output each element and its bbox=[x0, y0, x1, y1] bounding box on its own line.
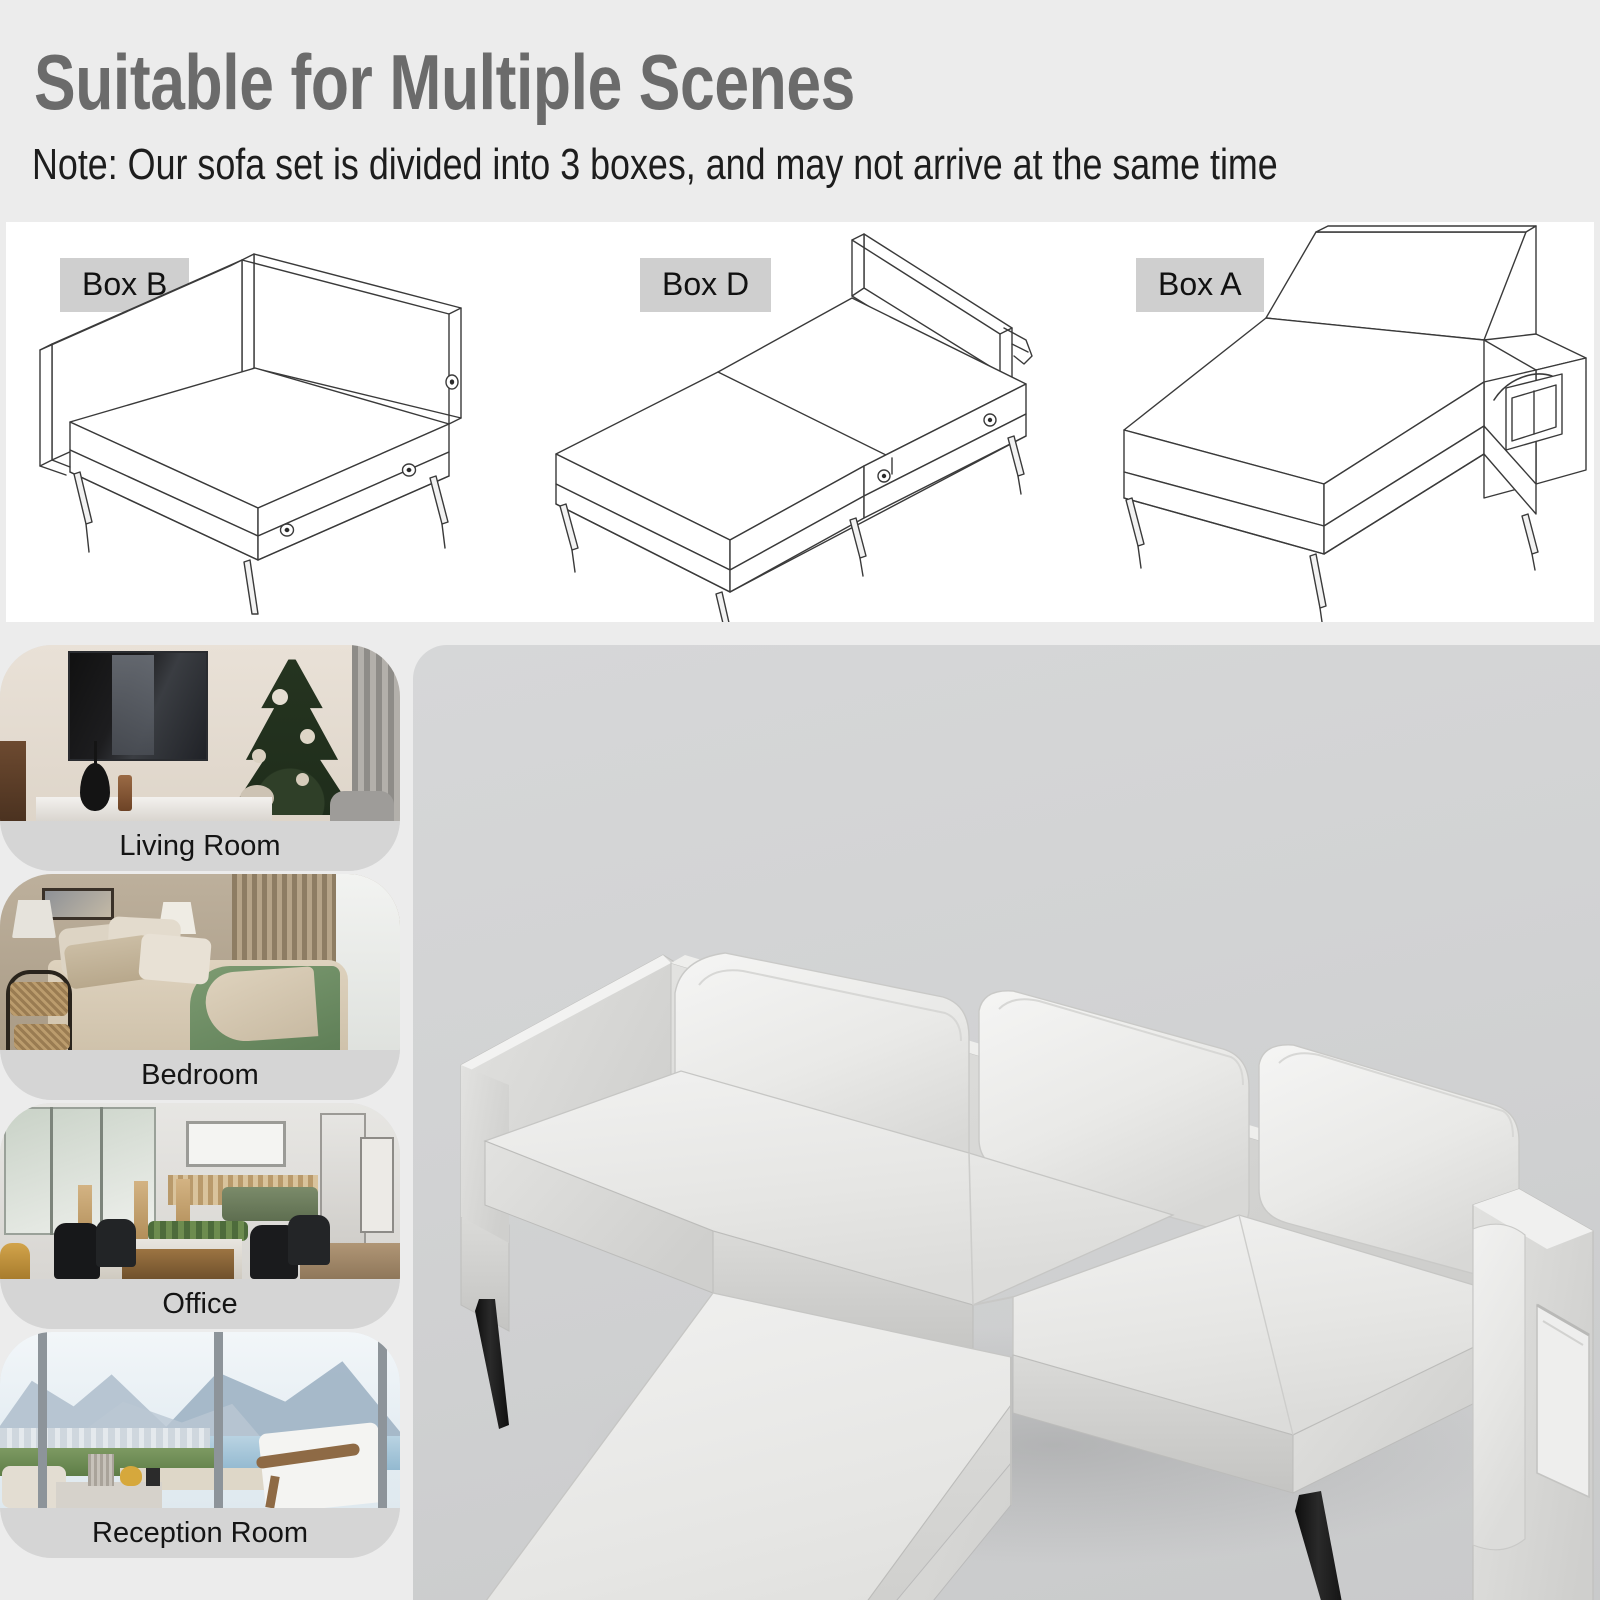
scene-tile-office[interactable]: Office bbox=[0, 1103, 400, 1329]
living-room-photo bbox=[0, 645, 400, 821]
header: Suitable for Multiple Scenes Note: Our s… bbox=[0, 0, 1600, 222]
box-diagram-a: Box A bbox=[1066, 222, 1594, 622]
scene-label-office: Office bbox=[0, 1279, 400, 1329]
scene-tile-bedroom[interactable]: Bedroom bbox=[0, 874, 400, 1100]
box-diagram-panel: Box B bbox=[6, 222, 1594, 622]
scene-label-living-room: Living Room bbox=[0, 821, 400, 871]
right-arm-power-module-icon bbox=[1066, 222, 1594, 622]
shipping-note: Note: Our sofa set is divided into 3 box… bbox=[32, 140, 1278, 190]
scene-label-bedroom: Bedroom bbox=[0, 1050, 400, 1100]
reception-room-photo bbox=[0, 1332, 400, 1508]
office-photo bbox=[0, 1103, 400, 1279]
scene-tile-reception-room[interactable]: Reception Room bbox=[0, 1332, 400, 1558]
corner-arm-module-icon bbox=[6, 222, 526, 622]
scene-label-reception-room: Reception Room bbox=[0, 1508, 400, 1558]
chaise-ottoman-module-icon bbox=[526, 222, 1066, 622]
page-title: Suitable for Multiple Scenes bbox=[34, 40, 855, 124]
product-infographic: Suitable for Multiple Scenes Note: Our s… bbox=[0, 0, 1600, 1600]
lower-section: Living Room bbox=[0, 622, 1600, 1600]
scene-tile-living-room[interactable]: Living Room bbox=[0, 645, 400, 871]
box-diagram-b: Box B bbox=[6, 222, 526, 622]
bedroom-photo bbox=[0, 874, 400, 1050]
sofa-product-photo bbox=[413, 645, 1600, 1600]
scene-gallery: Living Room bbox=[0, 645, 400, 1600]
box-diagram-d: Box D bbox=[526, 222, 1066, 622]
